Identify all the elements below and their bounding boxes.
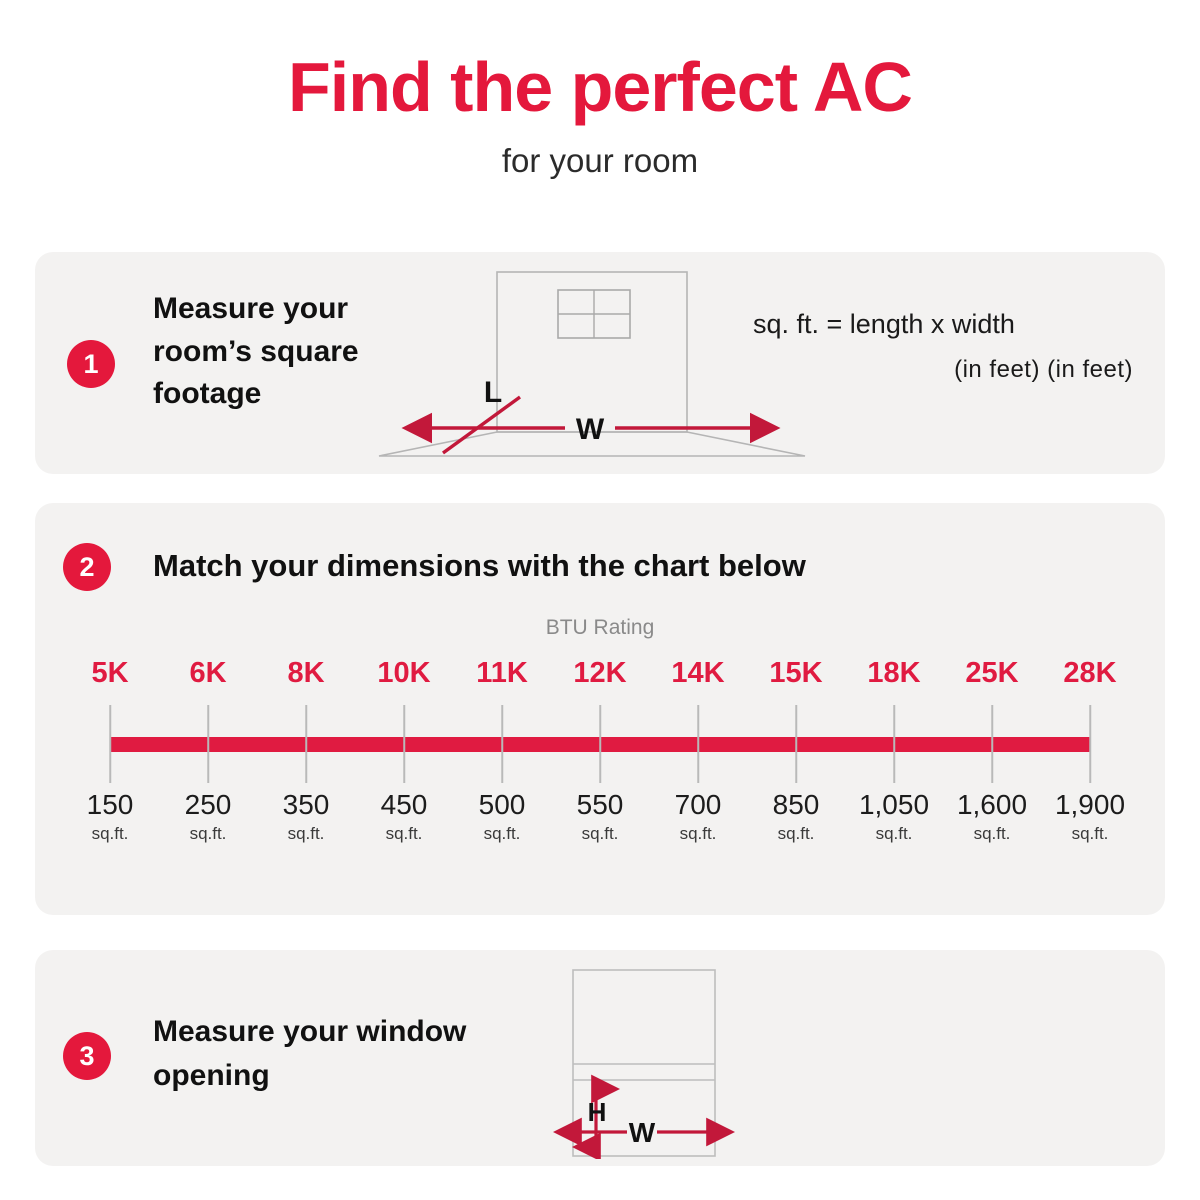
btu-scale-column[interactable]: 5K150sq.ft. <box>61 653 159 893</box>
btu-rating-label: 28K <box>1041 653 1139 688</box>
room-size-value: 500 <box>453 791 551 819</box>
btu-scale-column[interactable]: 6K250sq.ft. <box>159 653 257 893</box>
step-3-number: 3 <box>79 1043 94 1070</box>
room-size-unit: sq.ft. <box>649 825 747 842</box>
btu-scale-chart: 5K150sq.ft.6K250sq.ft.8K350sq.ft.10K450s… <box>35 653 1165 893</box>
step-2-instruction: Match your dimensions with the chart bel… <box>153 547 806 584</box>
room-size-unit: sq.ft. <box>943 825 1041 842</box>
room-size-unit: sq.ft. <box>551 825 649 842</box>
btu-scale-columns: 5K150sq.ft.6K250sq.ft.8K350sq.ft.10K450s… <box>61 653 1139 893</box>
formula-expression: sq. ft. = length x width <box>753 308 1143 340</box>
scale-tick <box>207 705 209 783</box>
room-window-icon <box>558 290 630 338</box>
formula-units: (in feet) (in feet) <box>753 356 1143 384</box>
btu-rating-label: 14K <box>649 653 747 688</box>
room-size-value: 1,900 <box>1041 791 1139 819</box>
btu-rating-label: 8K <box>257 653 355 688</box>
room-width-label: W <box>576 413 605 446</box>
step-3-instruction: Measure your window opening <box>153 1010 573 1097</box>
step-1-badge: 1 <box>67 340 115 388</box>
btu-scale-column[interactable]: 11K500sq.ft. <box>453 653 551 893</box>
room-size-unit: sq.ft. <box>61 825 159 842</box>
room-back-wall <box>497 272 687 432</box>
room-size-unit: sq.ft. <box>845 825 943 842</box>
btu-rating-caption: BTU Rating <box>35 616 1165 640</box>
btu-rating-label: 11K <box>453 653 551 688</box>
btu-rating-label: 10K <box>355 653 453 688</box>
scale-tick <box>109 705 111 783</box>
page-header: Find the perfect AC for your room <box>0 0 1200 177</box>
step-3-badge: 3 <box>63 1032 111 1080</box>
scale-tick <box>1089 705 1091 783</box>
step-3-card: 3 Measure your window opening <box>35 950 1165 1166</box>
scale-tick <box>697 705 699 783</box>
room-size-value: 1,050 <box>845 791 943 819</box>
scale-tick <box>991 705 993 783</box>
scale-tick <box>305 705 307 783</box>
room-size-unit: sq.ft. <box>453 825 551 842</box>
scale-tick <box>403 705 405 783</box>
room-length-label: L <box>484 376 502 409</box>
room-size-value: 550 <box>551 791 649 819</box>
scale-tick <box>795 705 797 783</box>
room-size-value: 850 <box>747 791 845 819</box>
btu-scale-column[interactable]: 12K550sq.ft. <box>551 653 649 893</box>
btu-rating-label: 25K <box>943 653 1041 688</box>
step-2-card: 2 Match your dimensions with the chart b… <box>35 503 1165 915</box>
btu-rating-label: 5K <box>61 653 159 688</box>
btu-rating-label: 12K <box>551 653 649 688</box>
room-length-arrow <box>443 397 520 453</box>
btu-rating-label: 15K <box>747 653 845 688</box>
room-size-unit: sq.ft. <box>159 825 257 842</box>
room-size-value: 150 <box>61 791 159 819</box>
btu-scale-column[interactable]: 28K1,900sq.ft. <box>1041 653 1139 893</box>
window-width-label: W <box>629 1117 656 1148</box>
square-footage-formula: sq. ft. = length x width (in feet) (in f… <box>753 308 1143 384</box>
scale-tick <box>599 705 601 783</box>
step-2-number: 2 <box>79 554 94 581</box>
window-height-label: H <box>588 1097 607 1127</box>
step-1-card: 1 Measure your room’s square footage <box>35 252 1165 474</box>
window-opening-diagram: H W <box>545 964 745 1164</box>
room-size-value: 450 <box>355 791 453 819</box>
step-2-badge: 2 <box>63 543 111 591</box>
room-size-value: 250 <box>159 791 257 819</box>
page-subtitle: for your room <box>0 144 1200 177</box>
btu-rating-label: 6K <box>159 653 257 688</box>
room-size-value: 1,600 <box>943 791 1041 819</box>
btu-scale-column[interactable]: 25K1,600sq.ft. <box>943 653 1041 893</box>
room-size-unit: sq.ft. <box>747 825 845 842</box>
scale-tick <box>893 705 895 783</box>
room-size-value: 350 <box>257 791 355 819</box>
window-diagram-svg: H W <box>545 964 745 1159</box>
btu-scale-column[interactable]: 10K450sq.ft. <box>355 653 453 893</box>
btu-scale-column[interactable]: 18K1,050sq.ft. <box>845 653 943 893</box>
scale-tick <box>501 705 503 783</box>
room-size-unit: sq.ft. <box>1041 825 1139 842</box>
room-size-value: 700 <box>649 791 747 819</box>
btu-scale-column[interactable]: 8K350sq.ft. <box>257 653 355 893</box>
page-title: Find the perfect AC <box>0 52 1200 122</box>
btu-scale-column[interactable]: 15K850sq.ft. <box>747 653 845 893</box>
room-size-unit: sq.ft. <box>355 825 453 842</box>
btu-scale-column[interactable]: 14K700sq.ft. <box>649 653 747 893</box>
room-size-unit: sq.ft. <box>257 825 355 842</box>
btu-rating-label: 18K <box>845 653 943 688</box>
step-1-number: 1 <box>83 351 98 378</box>
